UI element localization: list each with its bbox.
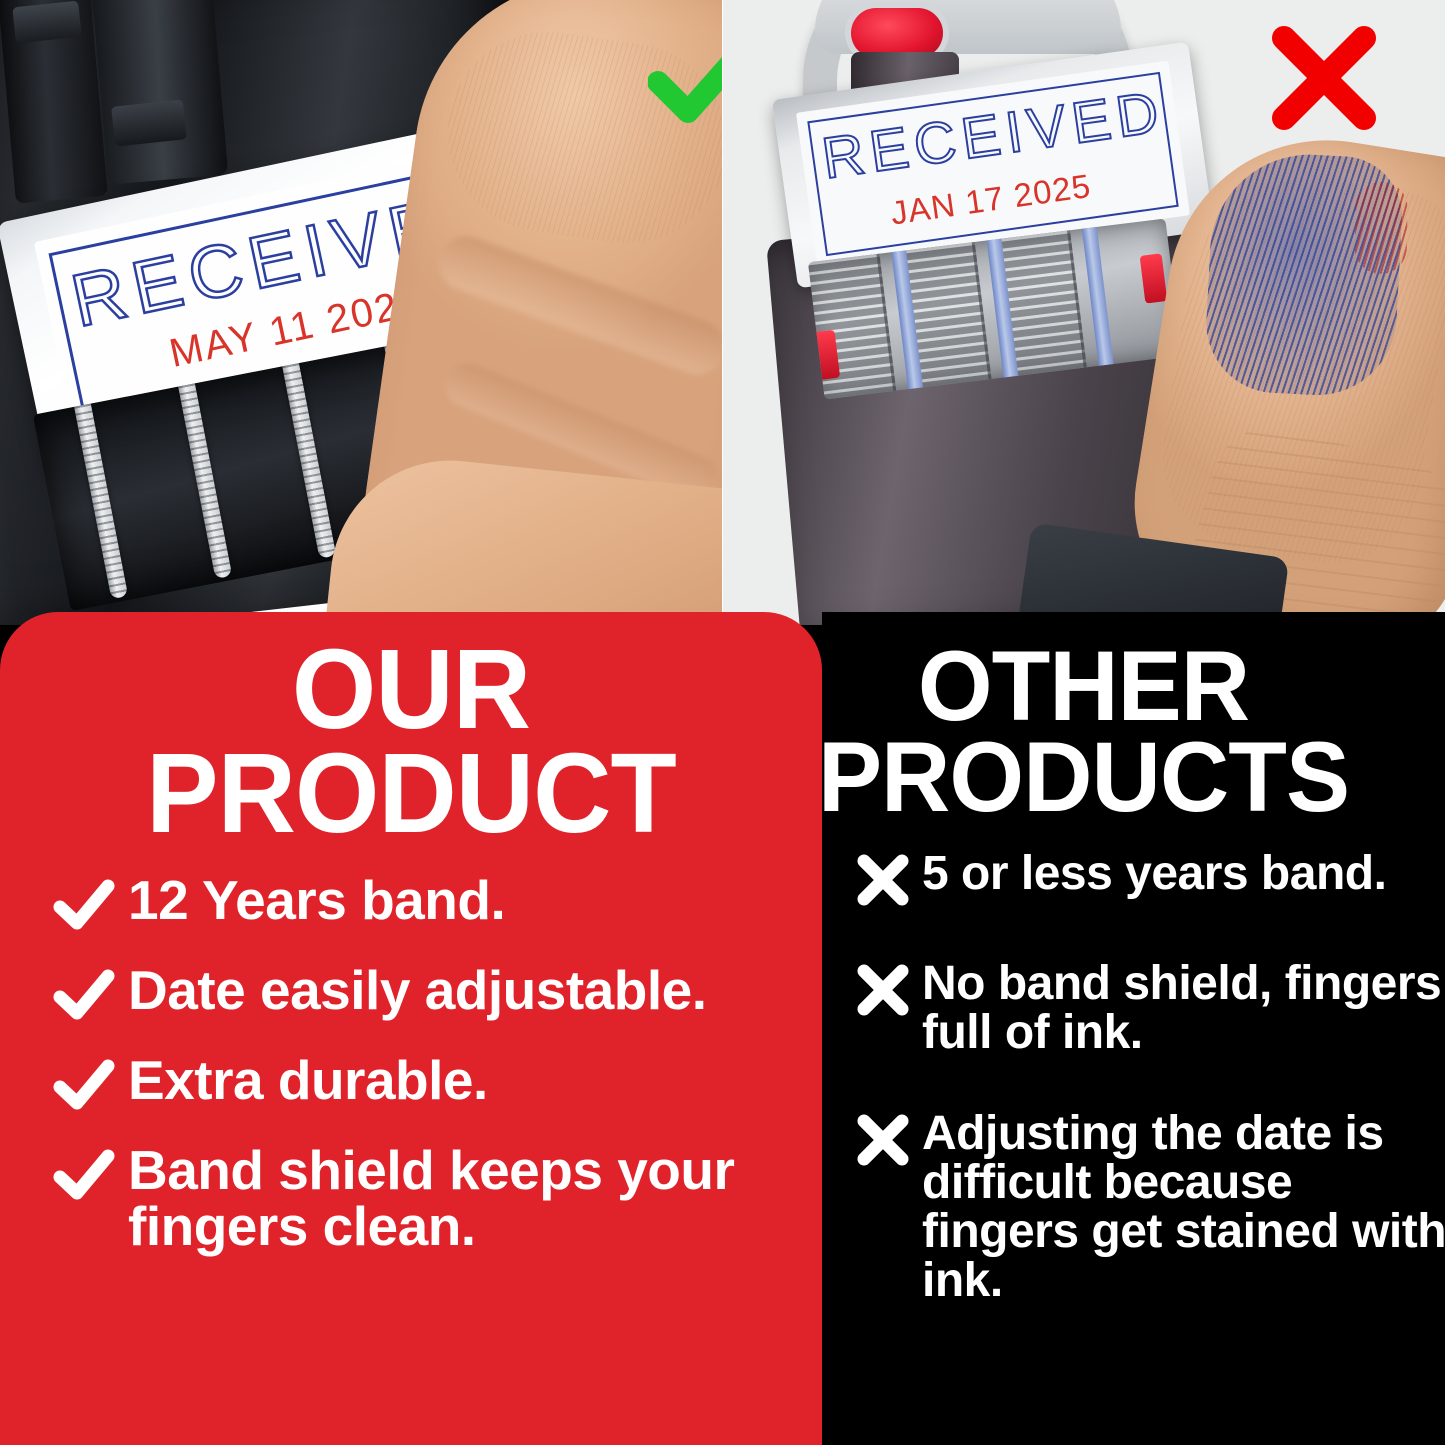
list-item-label: Date easily adjustable. xyxy=(128,962,707,1018)
list-item-label: No band shield, fingers full of ink. xyxy=(922,960,1445,1058)
other-products-bullet-list: 5 or less years band. No band shield, fi… xyxy=(850,850,1445,1358)
list-item-label: 5 or less years band. xyxy=(922,850,1386,899)
red-band-tab xyxy=(1140,253,1168,303)
list-item: Date easily adjustable. xyxy=(48,962,804,1022)
feature-comparison-panels: OTHER PRODUCTS 5 or less years band. xyxy=(0,612,1445,1445)
red-cross-icon xyxy=(1268,22,1380,134)
other-products-panel: OTHER PRODUCTS 5 or less years band. xyxy=(822,612,1445,1445)
cross-icon xyxy=(850,960,916,1018)
stamp-post-nub-left xyxy=(12,1,81,44)
check-icon xyxy=(48,962,120,1022)
our-product-heading: OUR PRODUCT xyxy=(16,638,805,846)
list-item-label: Band shield keeps your fingers clean. xyxy=(128,1142,804,1254)
our-product-heading-line1: OUR xyxy=(16,638,805,742)
band-wheel xyxy=(1081,221,1115,377)
green-check-icon xyxy=(648,30,722,130)
cross-icon xyxy=(850,1110,916,1168)
our-product-panel: OUR PRODUCT 12 Years band. xyxy=(0,612,822,1445)
red-ink-stain xyxy=(1354,181,1408,274)
stamp-post-nub-right xyxy=(111,99,187,146)
thumb-crease xyxy=(432,229,722,382)
comparison-infographic: RECEIVED MAY 11 2023 xyxy=(0,0,1445,1445)
our-product-heading-line2: PRODUCT xyxy=(16,742,805,846)
band-wheel xyxy=(175,370,232,579)
other-product-photo: RECEIVED JAN 17 2025 xyxy=(723,0,1445,625)
photo-comparison-row: RECEIVED MAY 11 2023 xyxy=(0,0,1445,625)
other-products-heading-line1: OTHER xyxy=(733,640,1434,731)
list-item: Band shield keeps your fingers clean. xyxy=(48,1142,804,1254)
list-item: Extra durable. xyxy=(48,1052,804,1112)
cross-icon xyxy=(850,850,916,908)
check-icon xyxy=(48,872,120,932)
check-icon xyxy=(48,1052,120,1112)
red-handle-button xyxy=(851,8,943,58)
list-item-label: Adjusting the date is difficult because … xyxy=(922,1110,1445,1306)
band-wheel xyxy=(71,390,128,599)
list-item: 12 Years band. xyxy=(48,872,804,932)
other-products-heading: OTHER PRODUCTS xyxy=(733,640,1434,822)
list-item: Adjusting the date is difficult because … xyxy=(850,1110,1445,1306)
photo-divider xyxy=(722,0,723,625)
stamp-post-right xyxy=(88,0,228,185)
check-icon xyxy=(48,1142,120,1202)
our-product-bullet-list: 12 Years band. Date easily adjustable. xyxy=(48,872,804,1284)
list-item: 5 or less years band. xyxy=(850,850,1445,908)
other-products-heading-line2: PRODUCTS xyxy=(733,731,1434,822)
band-wheel xyxy=(280,349,337,558)
list-item-label: Extra durable. xyxy=(128,1052,488,1108)
list-item: No band shield, fingers full of ink. xyxy=(850,960,1445,1058)
list-item-label: 12 Years band. xyxy=(128,872,505,928)
our-product-photo: RECEIVED MAY 11 2023 xyxy=(0,0,722,625)
